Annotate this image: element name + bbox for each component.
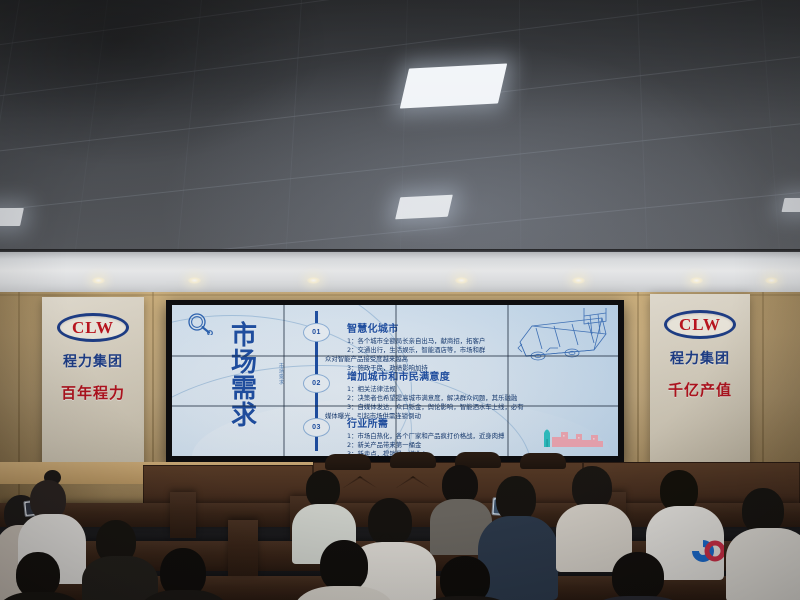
plaque-right-company: 程力集团 <box>670 348 730 368</box>
person-body <box>478 516 558 600</box>
bench-divider-left-1 <box>170 492 196 538</box>
stage-chair-4 <box>520 453 566 469</box>
clw-logo-icon-right: CLW <box>664 310 736 339</box>
ceiling-soffit-band <box>0 252 800 296</box>
plaque-left-slogan: 百年程力 <box>61 382 125 403</box>
section-02-heading: 增加城市和市民满意度 <box>347 368 524 383</box>
section-01-bullet-1: 1：各个城市全额局长亲自出马，献商招，拓客户 <box>347 337 485 346</box>
slide-section-01: 智慧化城市 1：各个城市全额局长亲自出马，献商招，拓客户 2：交通出行，生活娱乐… <box>347 320 485 373</box>
clw-logo-icon: CLW <box>57 313 129 342</box>
videowall-seam-v1 <box>283 305 285 456</box>
slide-section-03: 行业所需 1：市场白热化，各个厂家和产品疯打价格战，近身肉搏 2：新关产品带来第… <box>347 415 504 456</box>
timeline-node-01[interactable]: 01 <box>303 323 330 342</box>
city-skyline-graphic <box>538 425 604 452</box>
downlight-6 <box>690 277 703 284</box>
section-02-bullet-2: 2：决策者也希望提高城市满意度，解决群众问题，其乐融融 <box>347 394 524 403</box>
tshirt-logo-graphic <box>690 538 724 569</box>
section-03-bullet-2: 2：新关产品带来第一桶金 <box>347 441 504 450</box>
slide-title-char-3: 需 <box>231 376 265 403</box>
ceiling-panel-light-3 <box>0 208 24 226</box>
section-01-heading: 智慧化城市 <box>347 320 485 335</box>
person-body <box>726 528 800 600</box>
ceiling-panel-light-1 <box>400 63 507 108</box>
ceiling-light-sheen <box>0 0 800 268</box>
person-head <box>612 552 664 600</box>
bench-divider-left-2 <box>228 520 258 576</box>
slide-title: 市 场 需 求 <box>231 323 265 429</box>
downlight-3 <box>307 277 320 284</box>
search-icon <box>186 313 216 340</box>
section-01-bullet-2: 2：交通出行，生活娱乐，智能酒店等，市场和群 <box>347 346 485 355</box>
person-body <box>82 556 158 600</box>
downlight-4 <box>455 277 468 284</box>
plaque-right-slogan: 千亿产值 <box>668 379 732 400</box>
videowall-seam-v2 <box>395 305 397 456</box>
section-03-heading: 行业所需 <box>347 415 504 430</box>
podium-front-panel <box>143 465 313 507</box>
auditorium-scene: CLW 程力集团 百年程力 CLW 程力集团 千亿产值 <box>0 0 800 600</box>
logo-plaque-left: CLW 程力集团 百年程力 <box>42 297 144 472</box>
timeline-node-02[interactable]: 02 <box>303 374 330 393</box>
slide-title-char-1: 市 <box>231 323 265 350</box>
person-head <box>440 556 490 600</box>
clw-logo-text: CLW <box>72 319 114 336</box>
slide-section-02: 增加城市和市民满意度 1：相关法律法规 2：决策者也希望提高城市满意度，解决群众… <box>347 368 524 421</box>
section-02-bullet-1: 1：相关法律法规 <box>347 385 524 394</box>
ceiling-panel-light-2 <box>395 195 453 220</box>
videowall-seam-h1 <box>172 355 618 357</box>
downlight-1 <box>92 277 105 284</box>
section-03-bullet-1: 1：市场白热化，各个厂家和产品疯打价格战，近身肉搏 <box>347 432 504 441</box>
presentation-screen[interactable]: 市 场 需 求 市场需求 01 02 03 智慧化城市 1：各个城市全额局长亲自… <box>172 305 618 456</box>
videowall-seam-h2 <box>172 405 618 407</box>
logo-plaque-right: CLW 程力集团 千亿产值 <box>650 294 750 466</box>
stage-chair-2 <box>390 452 436 468</box>
plaque-left-company: 程力集团 <box>63 351 123 371</box>
video-wall-bezel[interactable]: 市 场 需 求 市场需求 01 02 03 智慧化城市 1：各个城市全额局长亲自… <box>166 300 624 463</box>
stage-chair-1 <box>325 454 371 470</box>
sanitation-truck-wireframe-icon <box>502 308 612 369</box>
clw-logo-text-right: CLW <box>679 316 721 333</box>
downlight-7 <box>765 277 778 284</box>
slide-title-char-2: 场 <box>231 350 265 377</box>
ceiling-panel-light-4 <box>782 198 800 212</box>
downlight-5 <box>572 277 585 284</box>
videowall-seam-v3 <box>507 305 509 456</box>
ceiling <box>0 0 800 268</box>
downlight-2 <box>188 277 201 284</box>
